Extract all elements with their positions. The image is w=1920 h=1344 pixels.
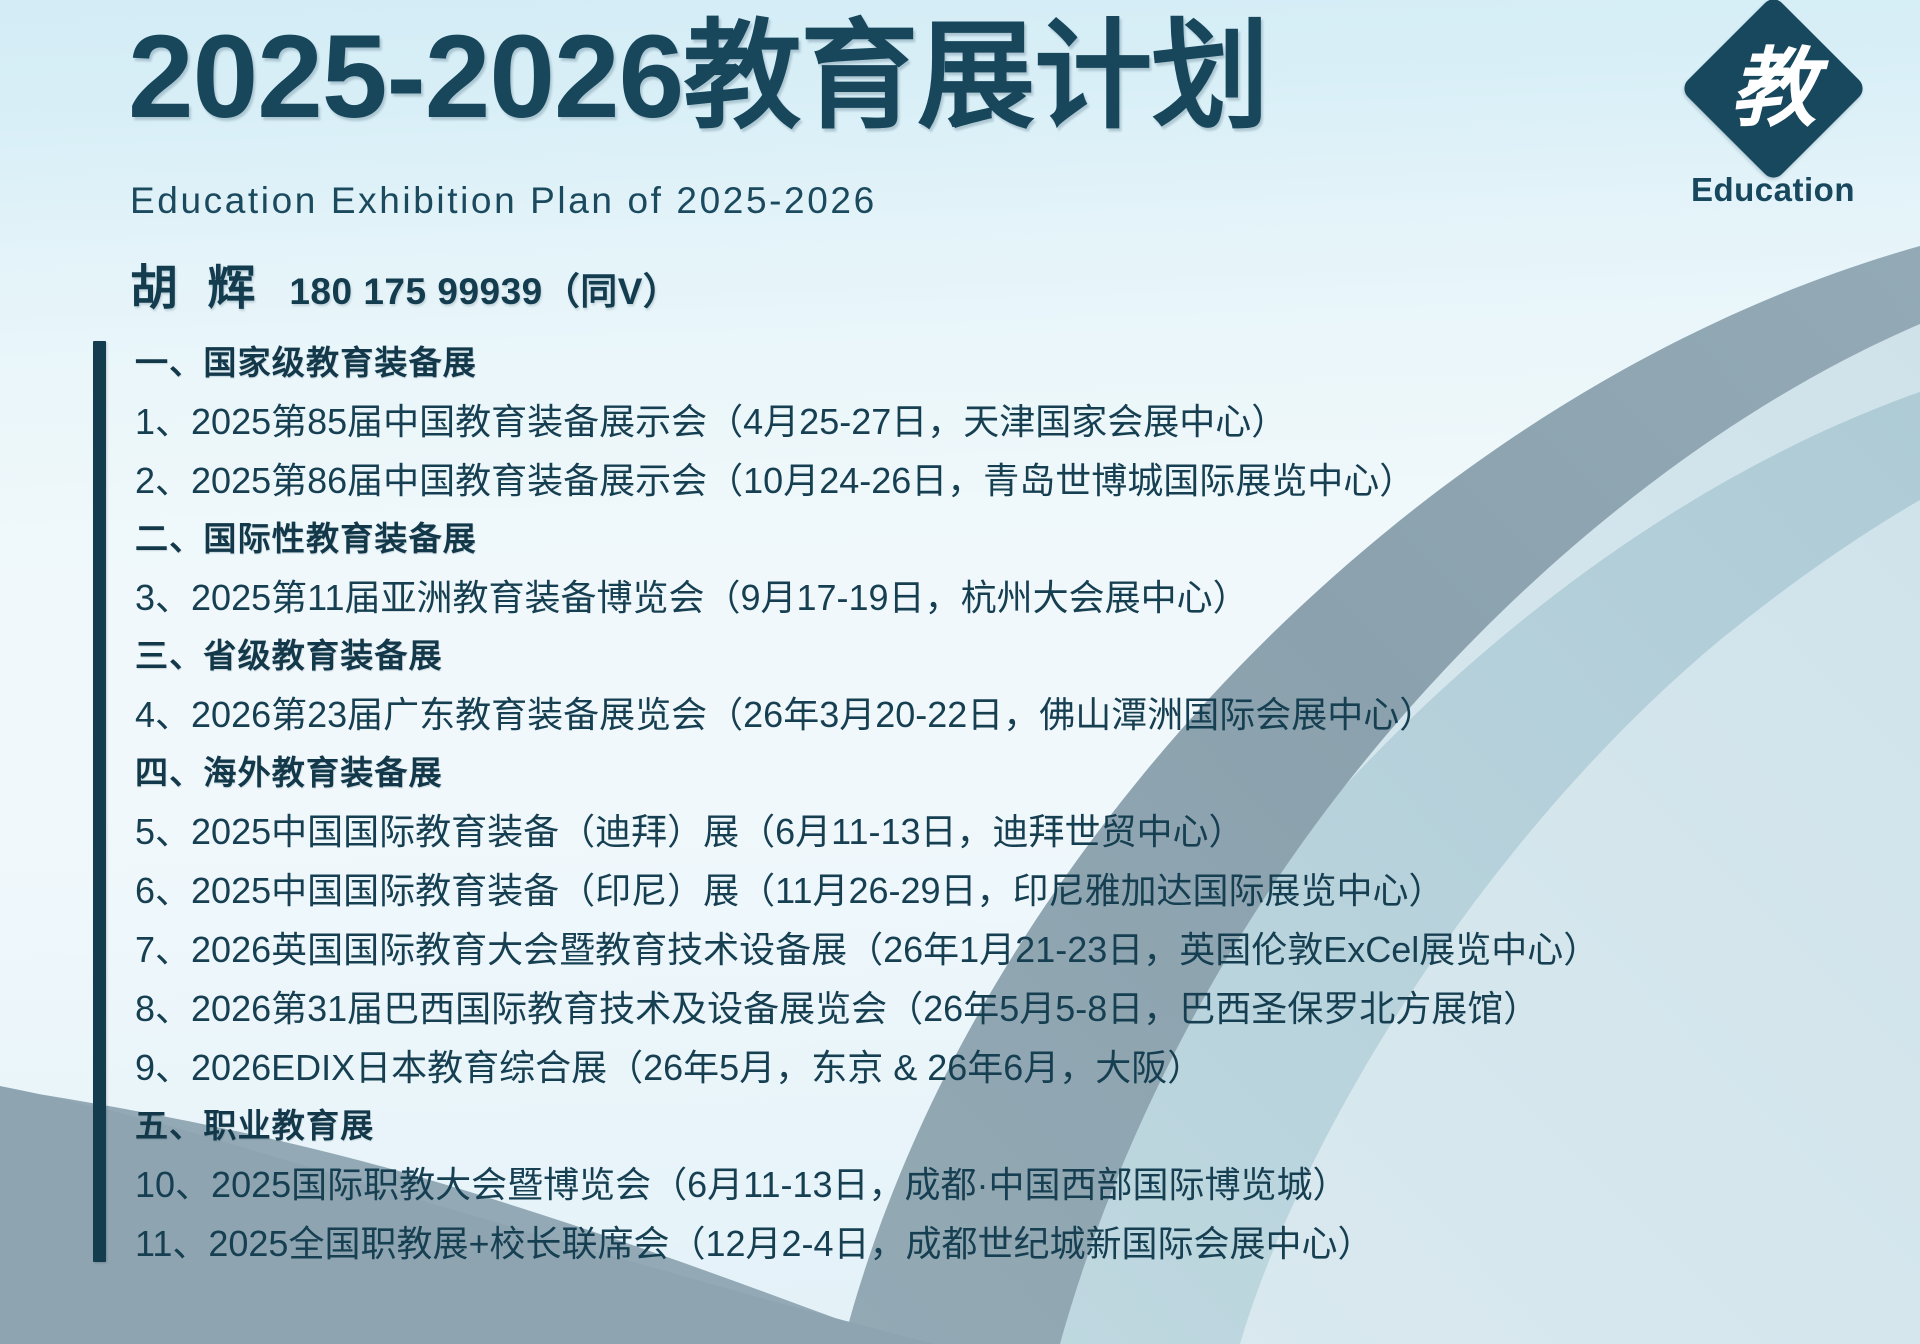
contact-phone[interactable]: 180 175 99939（同V） (289, 261, 680, 315)
list-item: 9、2026EDIX日本教育综合展（26年5月，东京 & 26年6月，大阪） (135, 1038, 1755, 1097)
list-item: 3、2025第11届亚洲教育装备博览会（9月17-19日，杭州大会展中心） (135, 568, 1755, 627)
list-item: 6、2025中国国际教育装备（印尼）展（11月26-29日，印尼雅加达国际展览中… (135, 861, 1755, 920)
list-item: 7、2026英国国际教育大会暨教育技术设备展（26年1月21-23日，英国伦敦E… (135, 920, 1755, 979)
list-item: 5、2025中国国际教育装备（迪拜）展（6月11-13日，迪拜世贸中心） (135, 802, 1755, 861)
diamond-badge-icon: 教 (1679, 0, 1867, 183)
list-item: 4、2026第23届广东教育装备展览会（26年3月20-22日，佛山潭洲国际会展… (135, 685, 1755, 744)
list-item: 10、2025国际职教大会暨博览会（6月11-13日，成都·中国西部国际博览城） (135, 1155, 1755, 1214)
left-accent-bar (93, 341, 106, 1262)
list-item: 2、2025第86届中国教育装备展示会（10月24-26日，青岛世博城国际展览中… (135, 451, 1755, 510)
poster-canvas: 2025-2026教育展计划 Education Exhibition Plan… (0, 0, 1920, 1344)
section-heading: 五、职业教育展 (135, 1097, 1755, 1155)
education-character-icon: 教 (1707, 22, 1840, 155)
page-title: 2025-2026教育展计划 (128, 18, 1268, 136)
page-subtitle: Education Exhibition Plan of 2025-2026 (130, 180, 877, 222)
list-item: 8、2026第31届巴西国际教育技术及设备展览会（26年5月5-8日，巴西圣保罗… (135, 979, 1755, 1038)
exhibition-plan-list: 一、国家级教育装备展1、2025第85届中国教育装备展示会（4月25-27日，天… (135, 334, 1755, 1273)
list-item: 11、2025全国职教展+校长联席会（12月2-4日，成都世纪城新国际会展中心） (135, 1214, 1755, 1273)
section-heading: 三、省级教育装备展 (135, 627, 1755, 685)
contact-name: 胡 辉 (130, 248, 263, 318)
contact-row: 胡 辉 180 175 99939（同V） (130, 248, 680, 318)
section-heading: 二、国际性教育装备展 (135, 510, 1755, 568)
section-heading: 四、海外教育装备展 (135, 744, 1755, 802)
section-heading: 一、国家级教育装备展 (135, 334, 1755, 392)
list-item: 1、2025第85届中国教育装备展示会（4月25-27日，天津国家会展中心） (135, 392, 1755, 451)
brand-logo: 教 Education (1678, 22, 1868, 209)
